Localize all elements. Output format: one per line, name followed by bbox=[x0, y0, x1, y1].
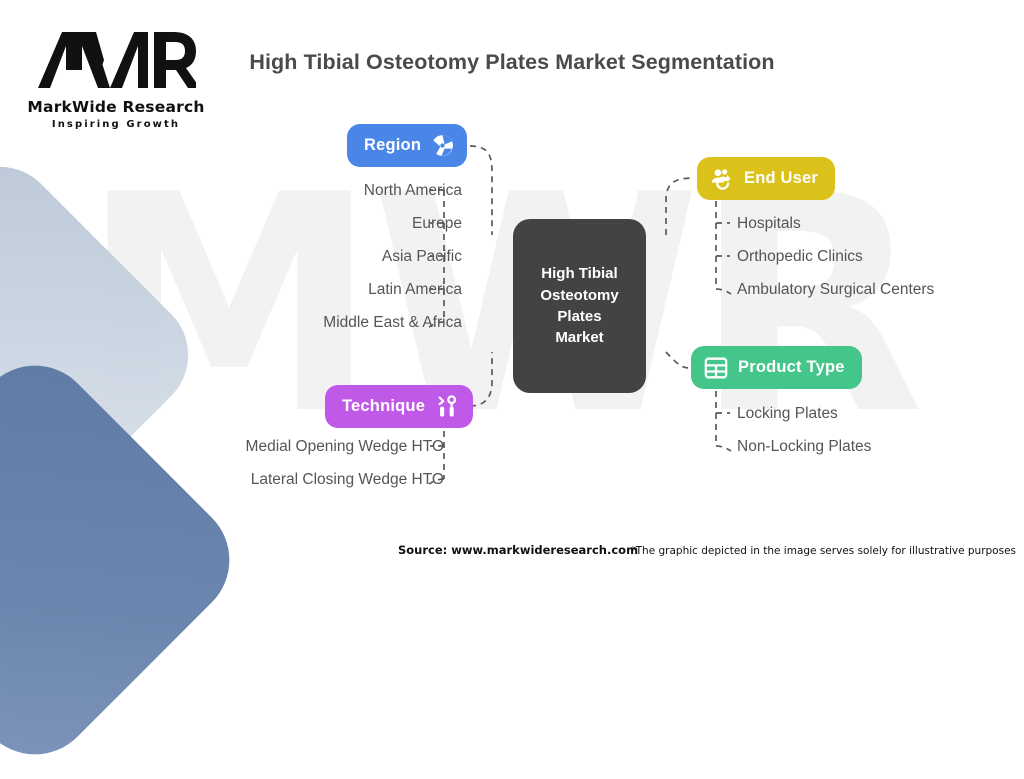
leaf-end-user-1: Orthopedic Clinics bbox=[737, 248, 863, 266]
disclaimer-text: *The graphic depicted in the image serve… bbox=[630, 545, 1016, 557]
branch-label-end-user: End User bbox=[744, 169, 818, 188]
leaf-technique-1: Lateral Closing Wedge HTO bbox=[251, 471, 444, 489]
center-line-4: Market bbox=[540, 327, 618, 348]
leaf-end-user-0: Hospitals bbox=[737, 215, 801, 233]
source-text: Source: www.markwideresearch.com bbox=[398, 543, 638, 557]
leaf-region-0: North America bbox=[364, 182, 462, 200]
surgical-tools-icon bbox=[434, 394, 460, 420]
grid-table-icon bbox=[703, 355, 729, 381]
globe-icon bbox=[430, 133, 455, 158]
leaf-end-user-2: Ambulatory Surgical Centers bbox=[737, 281, 934, 299]
leaf-region-1: Europe bbox=[412, 215, 462, 233]
leaf-technique-0: Medial Opening Wedge HTO bbox=[246, 438, 444, 456]
branch-label-product-type: Product Type bbox=[738, 358, 845, 377]
leaf-region-3: Latin America bbox=[368, 281, 462, 299]
leaf-product-type-0: Locking Plates bbox=[737, 405, 838, 423]
branch-label-technique: Technique bbox=[342, 397, 425, 416]
infographic-canvas: MWR MarkWide Research Inspiring Growth H… bbox=[0, 0, 1024, 576]
users-refresh-icon bbox=[709, 166, 735, 192]
leaf-region-4: Middle East & Africa bbox=[323, 314, 462, 332]
branch-label-region: Region bbox=[364, 136, 421, 155]
center-line-3: Plates bbox=[540, 306, 618, 327]
center-node-label: High Tibial Osteotomy Plates Market bbox=[540, 263, 618, 348]
branch-node-region[interactable]: Region bbox=[347, 124, 467, 167]
center-line-2: Osteotomy bbox=[540, 285, 618, 306]
branch-node-technique[interactable]: Technique bbox=[325, 385, 473, 428]
leaf-product-type-1: Non-Locking Plates bbox=[737, 438, 871, 456]
branch-node-end-user[interactable]: End User bbox=[697, 157, 835, 200]
branch-node-product-type[interactable]: Product Type bbox=[691, 346, 862, 389]
center-node: High Tibial Osteotomy Plates Market bbox=[513, 219, 646, 393]
center-line-1: High Tibial bbox=[540, 263, 618, 284]
leaf-region-2: Asia Pacific bbox=[382, 248, 462, 266]
